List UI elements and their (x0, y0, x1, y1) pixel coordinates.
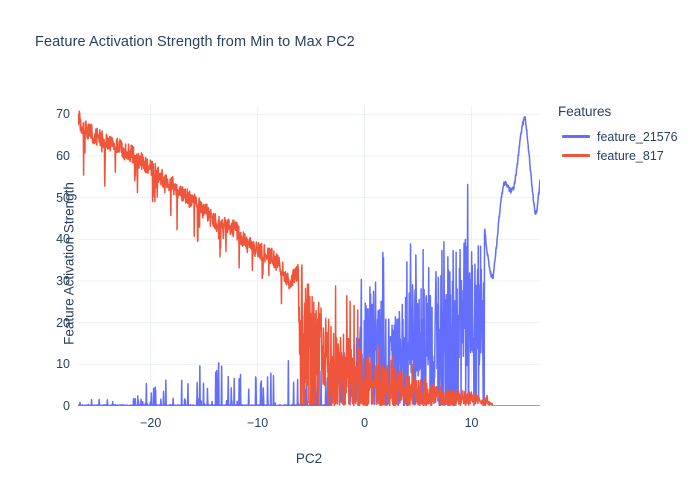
legend-item[interactable]: feature_817 (562, 146, 694, 165)
page-title: Feature Activation Strength from Min to … (35, 34, 355, 50)
legend-item-label: feature_817 (597, 149, 664, 163)
legend-title: Features (558, 104, 694, 119)
legend-items: feature_21576feature_817 (558, 127, 694, 165)
x-tick-label: −20 (121, 416, 181, 430)
x-tick-label: −10 (228, 416, 288, 430)
legend-swatch (562, 154, 590, 157)
x-axis-title: PC2 (78, 451, 540, 466)
plot-area: 010203040506070 −20−10010 Feature Activa… (78, 106, 540, 406)
y-axis-title: Feature Activation Strength (62, 54, 77, 474)
series-line (78, 111, 540, 406)
legend: Features feature_21576feature_817 (558, 104, 694, 165)
x-tick-label: 0 (335, 416, 395, 430)
chart-figure: Feature Activation Strength from Min to … (0, 0, 700, 500)
plot-svg (78, 106, 540, 406)
series-layer (78, 111, 540, 406)
legend-item[interactable]: feature_21576 (562, 127, 694, 146)
legend-swatch (562, 135, 590, 138)
legend-item-label: feature_21576 (597, 130, 678, 144)
x-tick-label: 10 (442, 416, 502, 430)
